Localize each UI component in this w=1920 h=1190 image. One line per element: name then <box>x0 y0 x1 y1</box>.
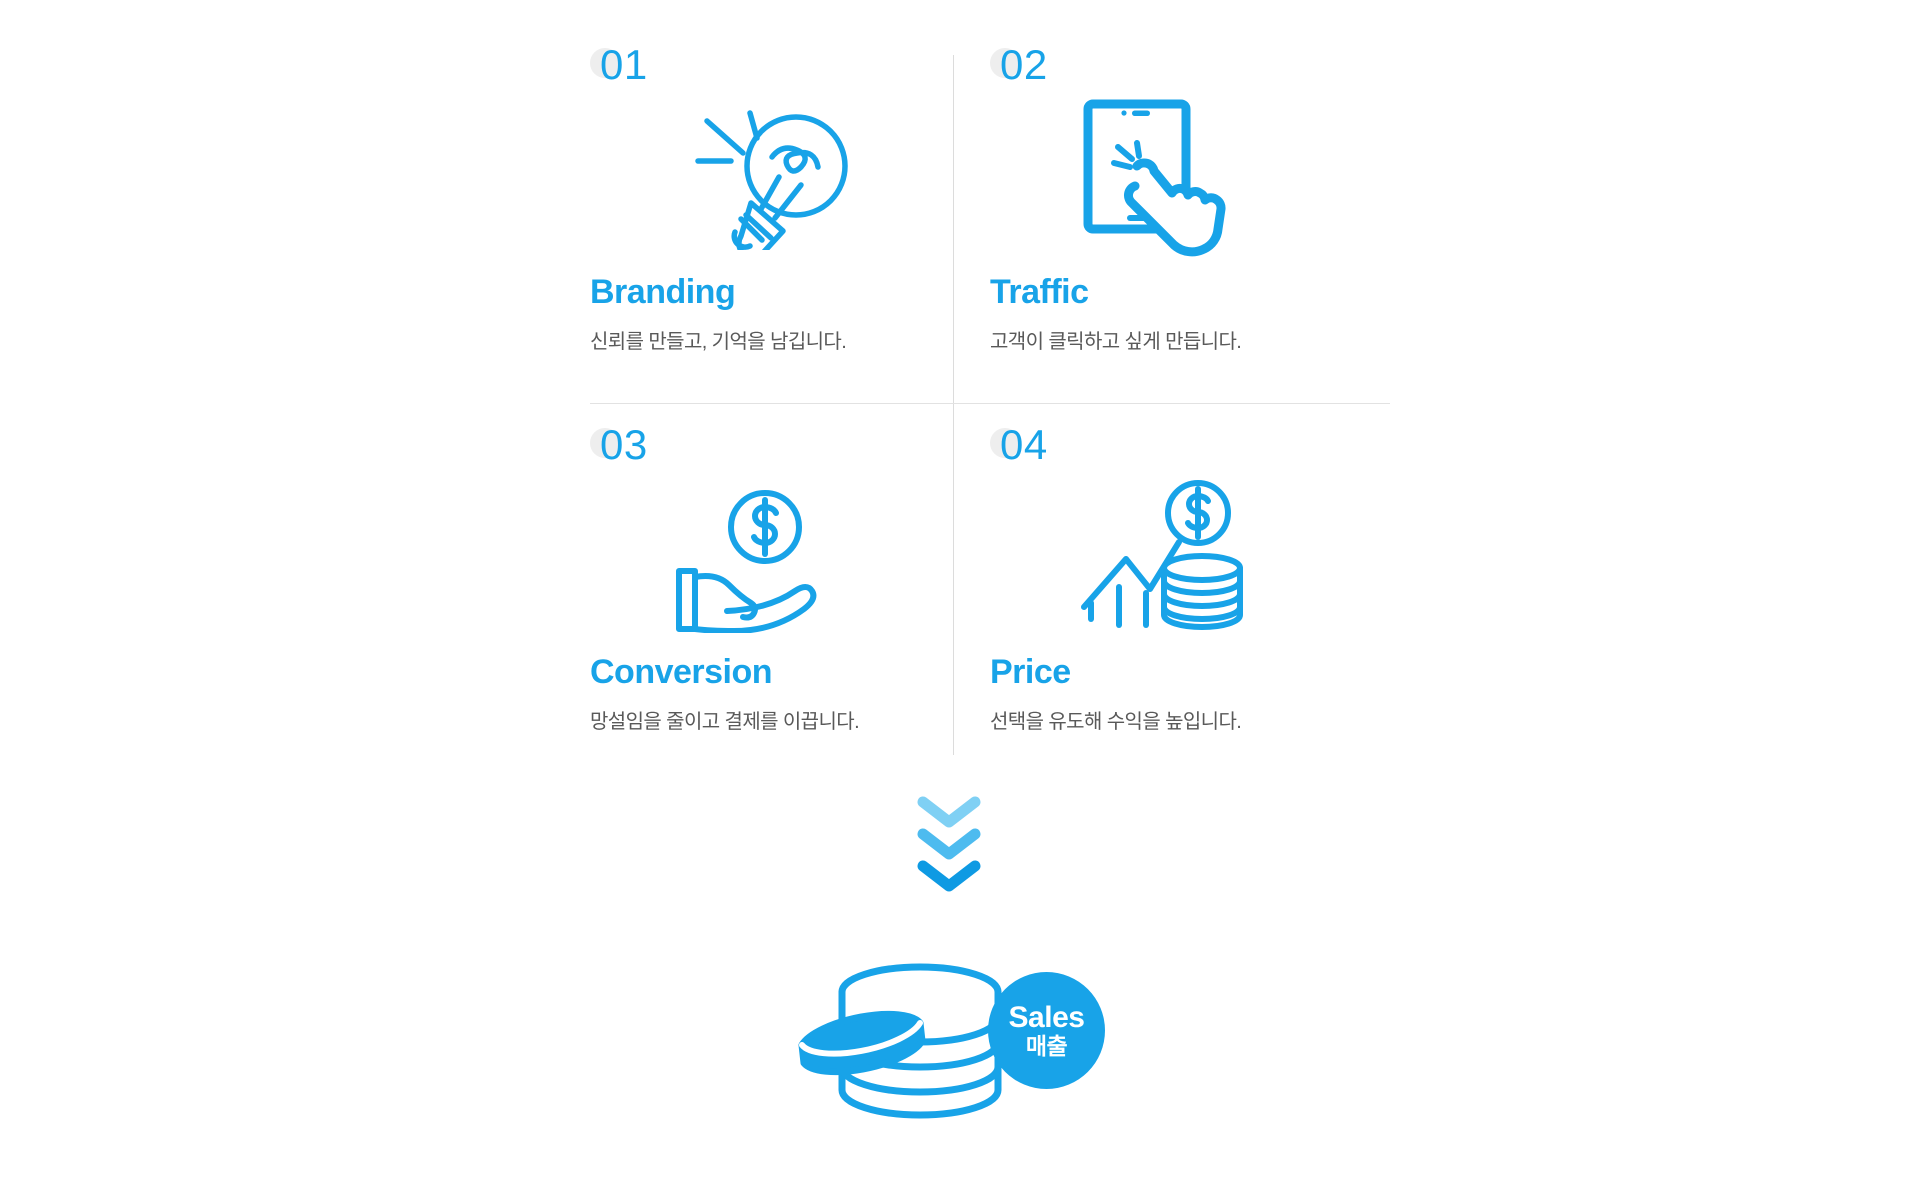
sales-label-en: Sales <box>1009 1002 1085 1034</box>
step-card-branding[interactable]: 01 <box>590 40 990 400</box>
horizontal-divider <box>590 403 1390 404</box>
step-title: Branding <box>590 275 735 309</box>
step-number-label: 02 <box>1000 44 1048 86</box>
tablet-tap-icon <box>1020 95 1310 260</box>
step-number-label: 01 <box>600 44 648 86</box>
step-title: Traffic <box>990 275 1089 309</box>
chevron-down-icon-2 <box>916 827 982 861</box>
step-card-traffic[interactable]: 02 <box>990 40 1390 400</box>
step-title: Conversion <box>590 655 772 689</box>
step-number-label: 04 <box>1000 424 1048 466</box>
step-number-label: 03 <box>600 424 648 466</box>
step-card-price[interactable]: 04 <box>990 420 1390 780</box>
step-title: Price <box>990 655 1071 689</box>
sales-result-group: Sales 매출 <box>790 955 1120 1135</box>
sales-label-kr: 매출 <box>1026 1033 1067 1059</box>
step-card-conversion[interactable]: 03 Conversion 망설임을 줄이고 결제를 이끕니다. <box>590 420 990 780</box>
lightbulb-icon <box>620 95 910 260</box>
sales-badge: Sales 매출 <box>988 972 1105 1089</box>
infographic-canvas: 01 <box>0 0 1920 1190</box>
steps-grid: 01 <box>590 40 1390 760</box>
step-description: 고객이 클릭하고 싶게 만듭니다. <box>990 330 1241 354</box>
step-description: 망설임을 줄이고 결제를 이끕니다. <box>590 710 859 734</box>
step-description: 선택을 유도해 수익을 높입니다. <box>990 710 1241 734</box>
growth-chart-coins-icon <box>1020 475 1310 640</box>
chevron-down-icon-1 <box>916 795 982 829</box>
step-description: 신뢰를 만들고, 기억을 남깁니다. <box>590 330 846 354</box>
triple-chevron-down-icon <box>916 795 1006 905</box>
hand-coin-icon <box>620 475 910 640</box>
chevron-down-icon-3 <box>916 859 982 893</box>
